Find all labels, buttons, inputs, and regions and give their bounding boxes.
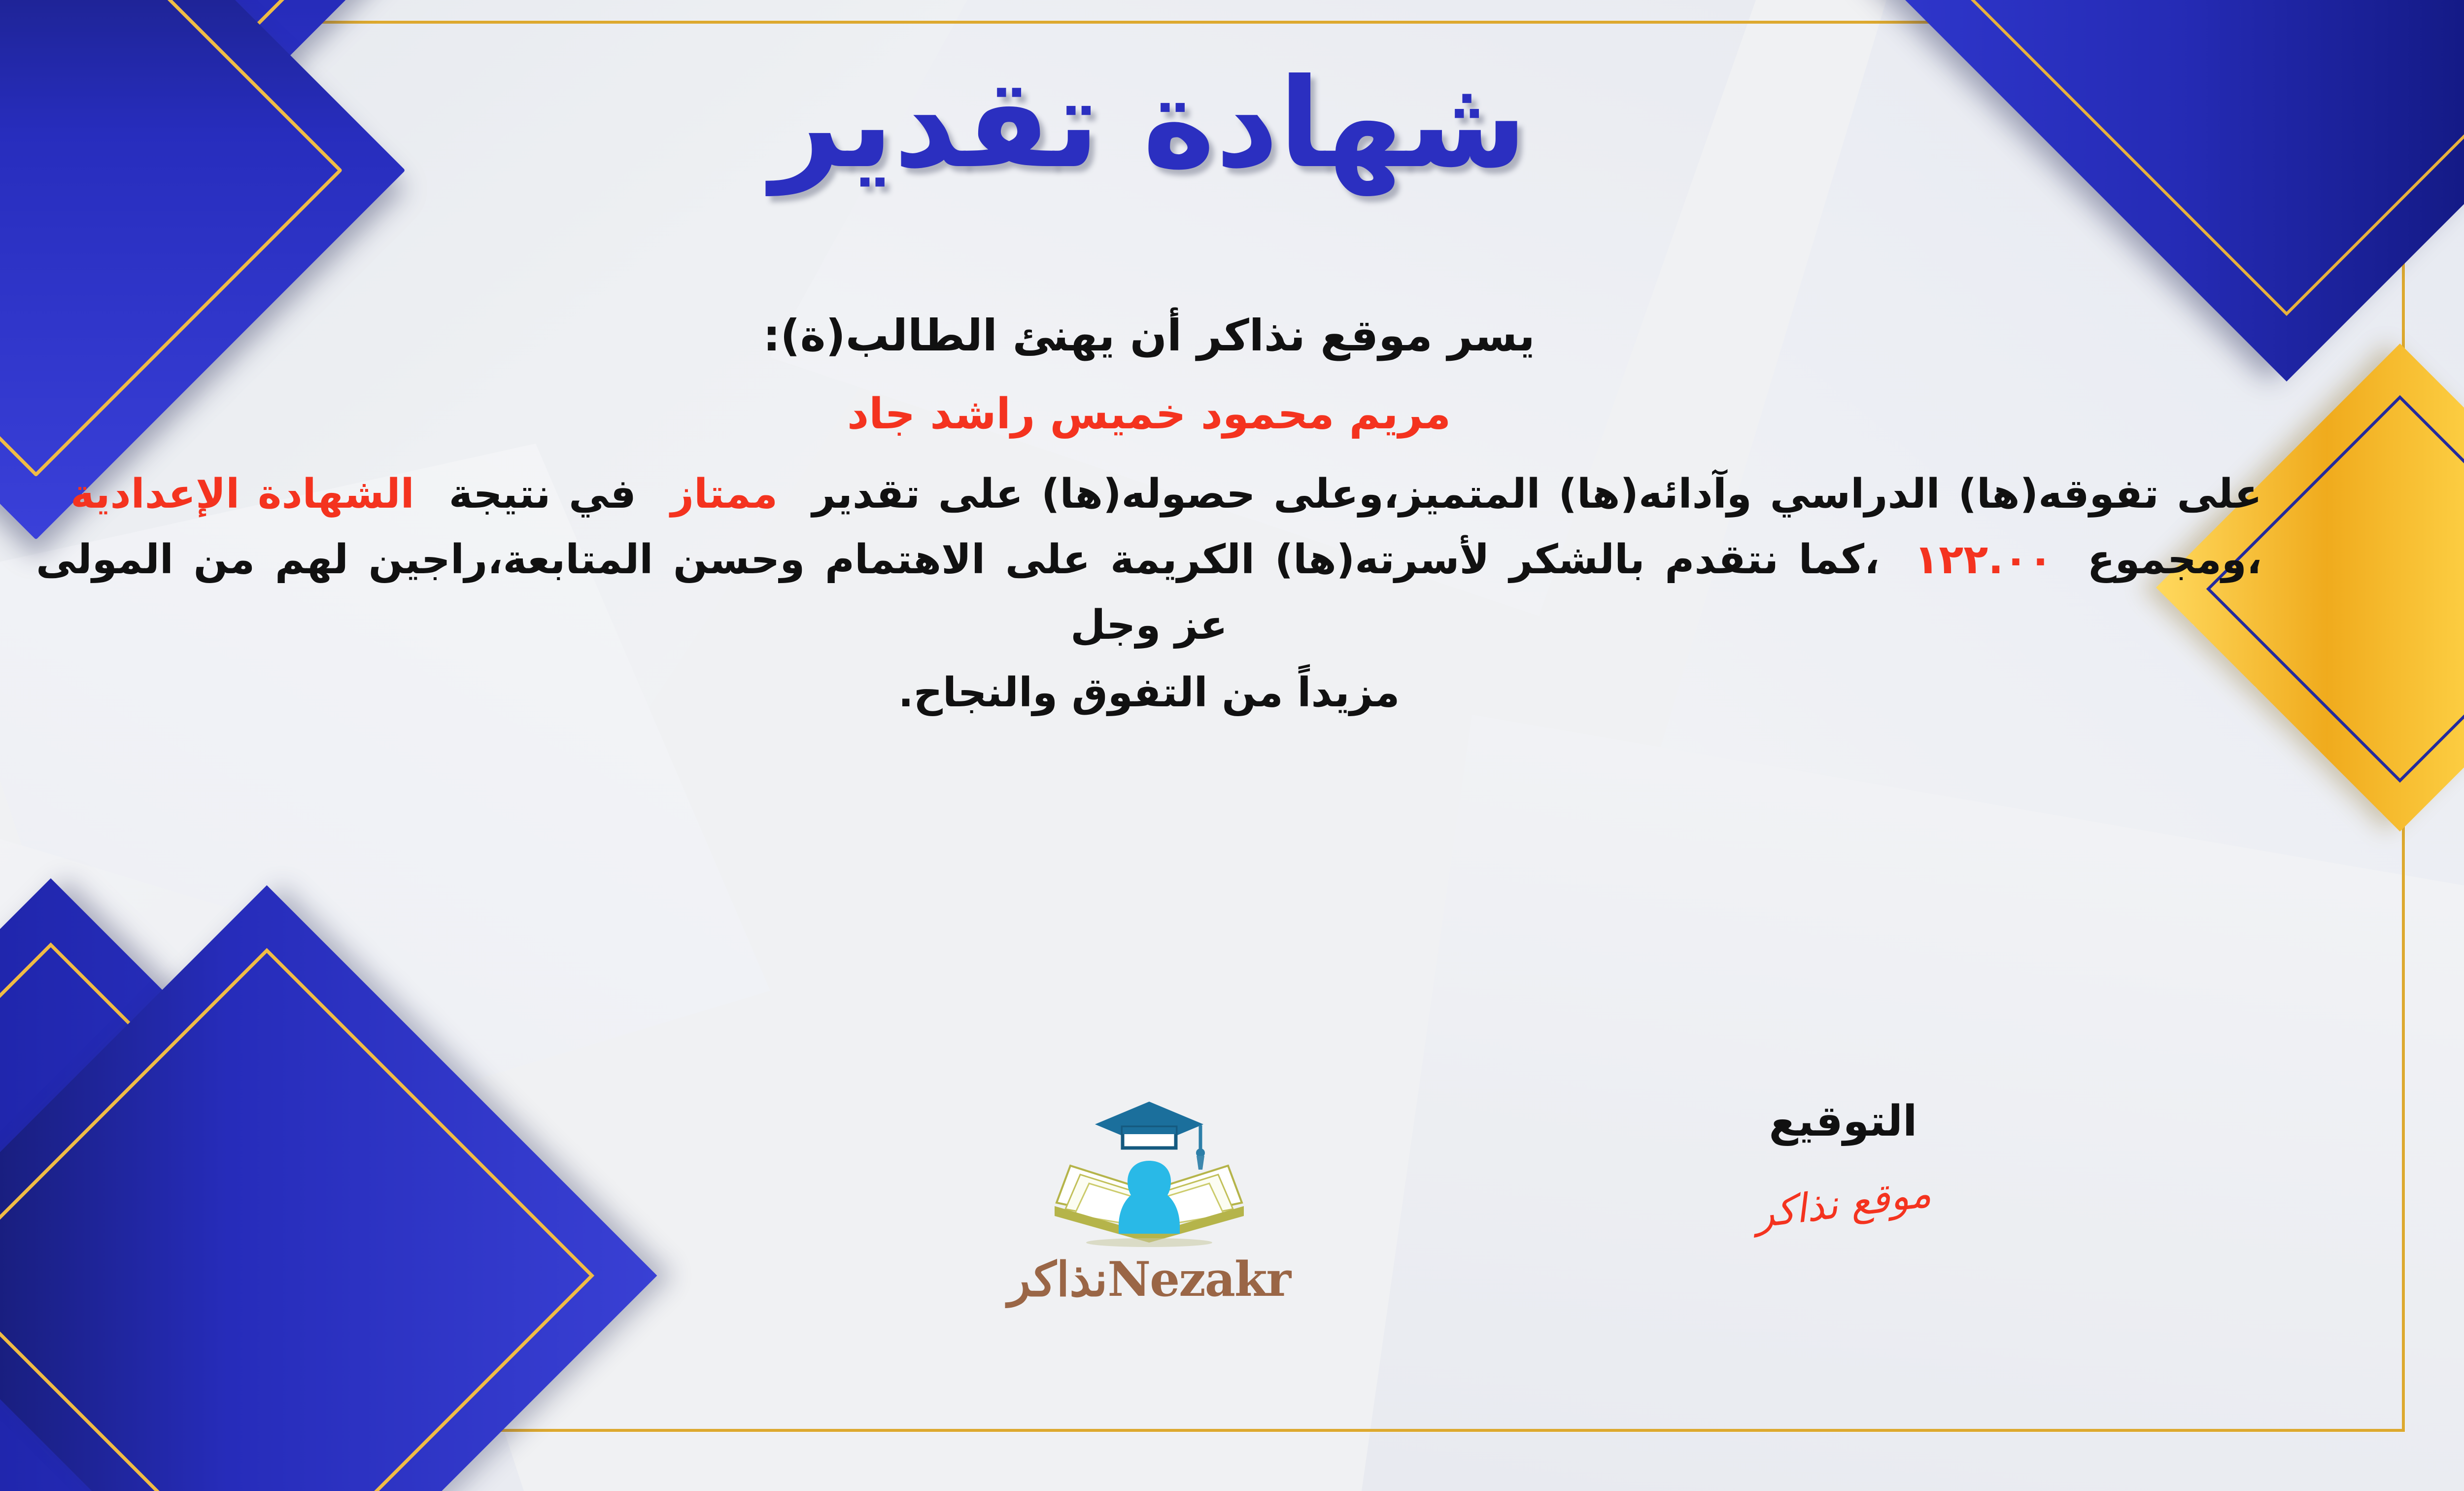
exam-name: الشهادة الإعدادية	[70, 471, 414, 518]
citation-part-1: على تفوقه(ها) الدراسي وآدائه(ها) المتميز…	[812, 471, 2262, 518]
certificate-title: شهادة تقدير	[0, 47, 2316, 201]
citation-part-5: الكريمة على الاهتمام وحسن المتابعة،راجين…	[36, 536, 1255, 649]
citation-part-3: ،ومجموع	[2088, 536, 2262, 583]
signature-label: التوقيع	[1715, 1097, 1971, 1146]
graduate-book-logo-icon	[1051, 1092, 1248, 1254]
citation-paragraph: على تفوقه(ها) الدراسي وآدائه(ها) المتميز…	[36, 462, 2262, 658]
logo-wordmark: Nezakrنذاكر	[972, 1251, 1327, 1307]
signature-block: التوقيع موقع نذاكر	[1715, 1097, 1971, 1226]
citation-part-4: ،كما نتقدم بالشكر لأسرته(ها)	[1275, 536, 1880, 583]
grade-value: ممتاز	[671, 471, 778, 518]
student-name: مريم محمود خميس راشد جاد	[36, 387, 2262, 442]
nezakr-logo: Nezakrنذاكر	[972, 1092, 1327, 1307]
certificate-content: شهادة تقدير يسر موقع نذاكر أن يهنئ الطال…	[0, 0, 2316, 1491]
certificate-page: شهادة تقدير يسر موقع نذاكر أن يهنئ الطال…	[0, 0, 2464, 1491]
certificate-body: يسر موقع نذاكر أن يهنئ الطالب(ة): مريم م…	[36, 306, 2262, 726]
citation-part-2: في نتيجة	[449, 471, 636, 518]
greeting-line: يسر موقع نذاكر أن يهنئ الطالب(ة):	[36, 306, 2262, 365]
citation-closing-line: مزيداً من التفوق والنجاح.	[36, 660, 2262, 726]
handwritten-signature: موقع نذاكر	[1752, 1170, 1934, 1237]
certificate-footer: التوقيع موقع نذاكر	[51, 1097, 2247, 1373]
total-score: ١٢٢.٠٠	[1914, 536, 2053, 583]
